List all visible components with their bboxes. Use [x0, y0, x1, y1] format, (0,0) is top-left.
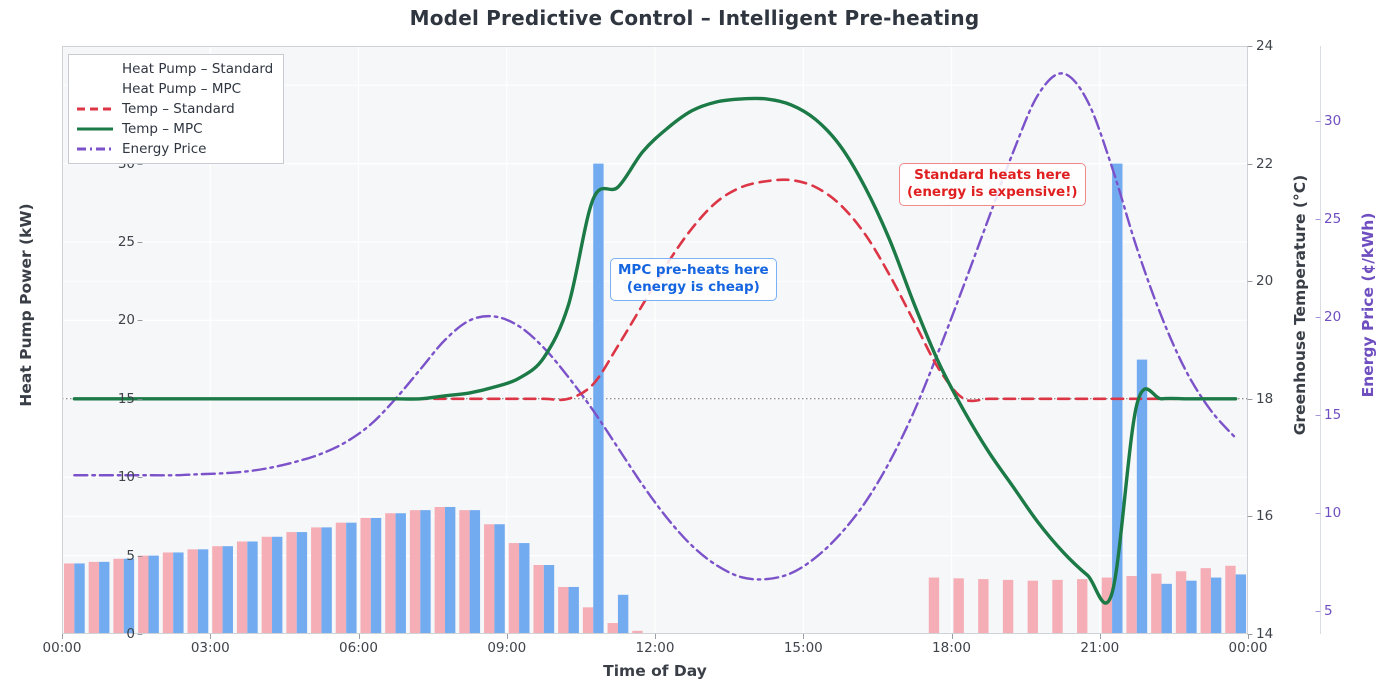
x-tick-mark	[655, 634, 656, 639]
legend-key-icon	[77, 122, 113, 136]
y-tick-left: 10–	[89, 469, 135, 485]
y-tick-temperature: –20	[1256, 273, 1273, 289]
legend-item[interactable]: Heat Pump – MPC	[77, 80, 273, 97]
legend-key-icon	[77, 102, 113, 116]
y-tick-temperature: –22	[1256, 156, 1273, 172]
x-tick-label: 03:00	[191, 640, 230, 656]
y-tick-left: 5–	[89, 548, 135, 564]
x-tick-label: 00:00	[43, 640, 82, 656]
legend-label: Heat Pump – MPC	[122, 81, 241, 97]
y-tick-temperature: –18	[1256, 391, 1273, 407]
x-tick-label: 09:00	[487, 640, 526, 656]
x-tick-mark	[62, 634, 63, 639]
legend-item[interactable]: Temp – Standard	[77, 100, 273, 117]
legend-line	[77, 127, 113, 130]
x-axis-label: Time of Day	[0, 662, 1310, 680]
chart-legend: Heat Pump – Standard Heat Pump – MPC Tem…	[68, 54, 284, 164]
y-tick-left: 20–	[89, 312, 135, 328]
annotation-standard-heats: Standard heats here (energy is expensive…	[899, 163, 1086, 206]
legend-key-icon	[77, 142, 113, 156]
y-tick-left: 15–	[89, 391, 135, 407]
y-tick-price: –15	[1324, 407, 1341, 423]
x-tick-mark	[803, 634, 804, 639]
annotation-mpc-preheat: MPC pre-heats here (energy is cheap)	[610, 258, 777, 301]
legend-label: Temp – MPC	[122, 121, 203, 137]
y-tick-temperature: –16	[1256, 508, 1273, 524]
price-axis-spine	[1320, 46, 1321, 634]
x-tick-mark	[507, 634, 508, 639]
y-tick-price: –20	[1324, 309, 1341, 325]
legend-label: Energy Price	[122, 141, 207, 157]
x-tick-label: 18:00	[932, 640, 971, 656]
chart-title: Model Predictive Control – Intelligent P…	[0, 6, 1389, 30]
x-tick-mark	[1100, 634, 1101, 639]
x-tick-label: 12:00	[636, 640, 675, 656]
y-axis-label-left: Heat Pump Power (kW)	[17, 5, 35, 605]
legend-line	[77, 147, 113, 150]
x-tick-label: 21:00	[1080, 640, 1119, 656]
legend-key-icon	[77, 82, 113, 96]
legend-item[interactable]: Temp – MPC	[77, 120, 273, 137]
legend-label: Heat Pump – Standard	[122, 61, 273, 77]
x-tick-mark	[359, 634, 360, 639]
x-tick-mark	[210, 634, 211, 639]
y-tick-price: –5	[1324, 603, 1333, 619]
legend-key-icon	[77, 62, 113, 76]
x-tick-label: 15:00	[784, 640, 823, 656]
legend-item[interactable]: Heat Pump – Standard	[77, 60, 273, 77]
x-tick-label: 00:00	[1229, 640, 1268, 656]
legend-line	[77, 107, 113, 110]
chart-root: Model Predictive Control – Intelligent P…	[0, 0, 1389, 690]
y-tick-price: –25	[1324, 211, 1341, 227]
y-tick-temperature: –24	[1256, 38, 1273, 54]
x-tick-label: 06:00	[339, 640, 378, 656]
y-tick-price: –10	[1324, 505, 1341, 521]
x-tick-mark	[952, 634, 953, 639]
y-tick-left: 0–	[89, 626, 135, 642]
legend-item[interactable]: Energy Price	[77, 140, 273, 157]
y-tick-price: –30	[1324, 113, 1341, 129]
x-tick-mark	[1248, 634, 1249, 639]
y-tick-left: 25–	[89, 234, 135, 250]
legend-label: Temp – Standard	[122, 101, 235, 117]
y-axis-label-right-price: Energy Price (¢/kWh)	[1359, 5, 1377, 605]
y-axis-label-right-temperature: Greenhouse Temperature (°C)	[1291, 5, 1309, 605]
